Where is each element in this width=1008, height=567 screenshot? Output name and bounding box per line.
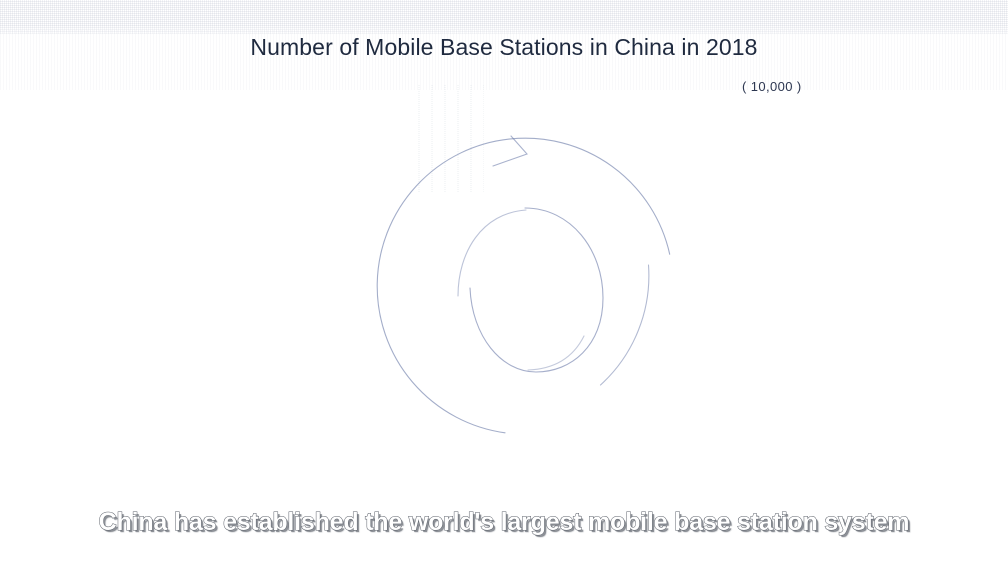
donut-outer-right-arc <box>601 265 649 385</box>
slide-canvas: Number of Mobile Base Stations in China … <box>0 0 1008 567</box>
donut-outer-main-arc <box>377 138 670 433</box>
donut-inner-hole-lower-arc <box>458 210 526 296</box>
donut-inner-hole-bottom-arc <box>528 336 584 370</box>
donut-chart-svg <box>360 120 690 450</box>
donut-inner-hole <box>470 208 603 372</box>
scan-noise-texture <box>0 0 1008 34</box>
caption-text: China has established the world's larges… <box>99 508 910 537</box>
unit-label: ( 10,000 ) <box>742 79 802 94</box>
donut-chart <box>360 120 690 450</box>
chart-title: Number of Mobile Base Stations in China … <box>0 34 1008 61</box>
caption: China has established the world's larges… <box>0 508 1008 537</box>
